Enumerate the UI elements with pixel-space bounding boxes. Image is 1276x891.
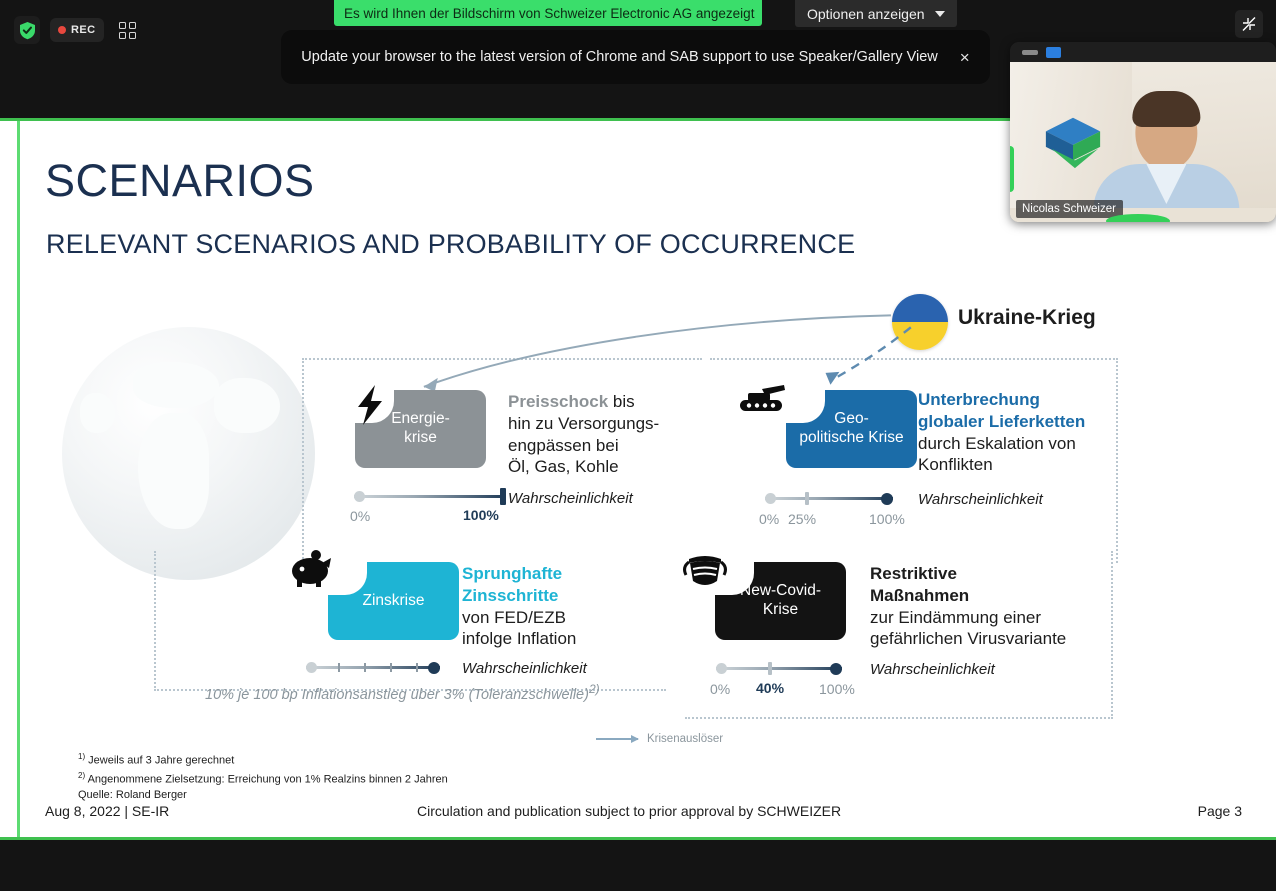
globe-icon [62, 327, 315, 580]
close-icon[interactable]: × [960, 49, 970, 66]
badge-line-1: Geo- [834, 410, 868, 427]
scenario-note-text: 10% je 100 bp Inflationsanstieg über 3% … [205, 687, 589, 703]
lightning-bolt-icon [350, 383, 390, 427]
badge-line-1: Zinskrise [362, 592, 424, 611]
green-share-edge-bottom [1106, 214, 1170, 222]
grid-view-icon[interactable] [114, 17, 140, 43]
recording-label: REC [71, 24, 95, 36]
scenario-body-4: Öl, Gas, Kohle [508, 457, 619, 476]
meeting-screen-share-window: REC Es wird Ihnen der Bildschirm von Sch… [0, 0, 1276, 891]
scenario-description-new-covid-krise: Restriktive Maßnahmen zur Eindämmung ein… [870, 563, 1110, 650]
video-tile-header [1010, 42, 1276, 62]
arrow-right-icon [596, 738, 638, 740]
collapse-arrows-icon[interactable] [1235, 10, 1263, 38]
footnote-2-text: Angenommene Zielsetzung: Erreichung von … [85, 773, 448, 785]
badge-line-1: New-Covid- [740, 582, 821, 599]
participant-video-tile[interactable]: Nicolas Schweizer [1010, 42, 1276, 222]
scale-min-geo: 0% [759, 511, 779, 527]
window-square-icon [1046, 47, 1061, 58]
footer-page-number: Page 3 [1198, 803, 1242, 819]
footnote-1: 1) Jeweils auf 3 Jahre gerechnet [78, 751, 448, 770]
badge-line-1: Energie- [391, 410, 450, 427]
browser-update-toast: Update your browser to the latest versio… [281, 30, 990, 84]
recording-badge[interactable]: REC [50, 18, 104, 42]
scenario-body-2: hin zu Versorgungs- [508, 414, 659, 433]
probability-slider-geopolitische-krise[interactable] [765, 491, 893, 505]
scenario-badge-zinskrise: Zinskrise [328, 562, 459, 640]
tank-icon [738, 383, 788, 421]
scenario-body-1: bis [613, 392, 635, 411]
trigger-label: Ukraine-Krieg [958, 306, 1096, 330]
slide-footer: Aug 8, 2022 | SE-IR Circulation and publ… [20, 803, 1276, 823]
probability-label-zinskrise: Wahrscheinlichkeit [462, 660, 587, 677]
scale-mid-covid: 40% [756, 680, 784, 696]
shared-screen-frame: SCENARIOS RELEVANT SCENARIOS AND PROBABI… [0, 118, 1276, 840]
toolbar-left-group: REC [14, 16, 140, 44]
footnote-1-text: Jeweils auf 3 Jahre gerechnet [85, 755, 234, 767]
scenario-note-sup: 2) [589, 682, 600, 696]
scenario-body-3: engpässen bei [508, 436, 619, 455]
badge-line-2: Krise [763, 601, 798, 618]
badge-line-2: krise [404, 429, 437, 446]
shield-check-icon[interactable] [14, 16, 40, 44]
scenario-headline: Preisschock [508, 392, 608, 411]
chevron-down-icon [935, 11, 945, 17]
scenario-headline-1: Unterbrechung [918, 390, 1040, 409]
footnote-2: 2) Angenommene Zielsetzung: Erreichung v… [78, 770, 448, 789]
show-options-button[interactable]: Optionen anzeigen [795, 0, 957, 27]
scale-mid-geo: 25% [788, 511, 816, 527]
screen-share-banner: Es wird Ihnen der Bildschirm von Schweiz… [334, 0, 762, 26]
scenario-description-zinskrise: Sprunghafte Zinsschritte von FED/EZB inf… [462, 563, 667, 650]
probability-label-new-covid-krise: Wahrscheinlichkeit [870, 661, 995, 678]
footnote-3-text: Quelle: Roland Berger [78, 789, 187, 801]
piggy-bank-icon [288, 549, 334, 589]
scale-max-geo: 100% [869, 511, 905, 527]
footer-disclaimer: Circulation and publication subject to p… [417, 803, 841, 819]
probability-slider-zinskrise[interactable] [306, 660, 440, 674]
browser-update-message: Update your browser to the latest versio… [301, 49, 937, 65]
scenario-badge-geopolitische-krise: Geo- politische Krise [786, 390, 917, 468]
scale-min-covid: 0% [710, 681, 730, 697]
scenario-body-1: zur Eindämmung einer [870, 608, 1041, 627]
scale-max-covid: 100% [819, 681, 855, 697]
page-title: SCENARIOS [45, 155, 315, 207]
scale-min-energiekrise: 0% [350, 508, 370, 524]
window-bar-icon [1022, 50, 1038, 55]
scale-max-energiekrise: 100% [463, 507, 499, 523]
show-options-label: Optionen anzeigen [807, 6, 925, 22]
scenario-body-2: gefährlichen Virusvariante [870, 629, 1066, 648]
page-subtitle: RELEVANT SCENARIOS AND PROBABILITY OF OC… [46, 229, 855, 260]
scenario-headline-2: Zinsschritte [462, 586, 558, 605]
scenario-headline-1: Restriktive [870, 564, 957, 583]
badge-line-2: politische Krise [799, 429, 903, 446]
scenario-note-zinskrise: 10% je 100 bp Inflationsanstieg über 3% … [205, 682, 600, 703]
record-dot-icon [58, 26, 66, 34]
probability-label-energiekrise: Wahrscheinlichkeit [508, 490, 633, 507]
scenario-description-energiekrise: Preisschock bis hin zu Versorgungs- engp… [508, 391, 713, 478]
footnote-3: Quelle: Roland Berger [78, 788, 448, 804]
participant-name-label: Nicolas Schweizer [1016, 200, 1123, 218]
scenario-body-2: infolge Inflation [462, 629, 576, 648]
scenario-badge-new-covid-krise: New-Covid- Krise [715, 562, 846, 640]
legend-label: Krisenauslöser [647, 733, 723, 745]
scenario-headline-2: globaler Lieferketten [918, 412, 1085, 431]
probability-label-geopolitische-krise: Wahrscheinlichkeit [918, 491, 1043, 508]
scenario-description-geopolitische-krise: Unterbrechung globaler Lieferketten durc… [918, 389, 1133, 476]
footnotes: 1) Jeweils auf 3 Jahre gerechnet 2) Ange… [78, 751, 448, 804]
green-share-edge-left [1010, 146, 1014, 192]
screen-share-banner-text: Es wird Ihnen der Bildschirm von Schweiz… [344, 6, 754, 21]
probability-slider-energiekrise[interactable] [354, 489, 506, 503]
ukraine-flag-icon [892, 294, 948, 350]
presentation-slide: SCENARIOS RELEVANT SCENARIOS AND PROBABI… [20, 121, 1276, 837]
probability-slider-new-covid-krise[interactable] [716, 661, 842, 675]
video-feed: Nicolas Schweizer [1010, 62, 1276, 222]
scenario-body-2: Konflikten [918, 455, 993, 474]
face-mask-icon [680, 553, 730, 593]
scenario-headline-2: Maßnahmen [870, 586, 969, 605]
footer-date: Aug 8, 2022 | SE-IR [45, 803, 169, 819]
scenario-headline-1: Sprunghafte [462, 564, 562, 583]
scenario-body-1: durch Eskalation von [918, 434, 1076, 453]
legend-crisis-trigger: Krisenauslöser [596, 733, 723, 745]
scenario-body-1: von FED/EZB [462, 608, 566, 627]
